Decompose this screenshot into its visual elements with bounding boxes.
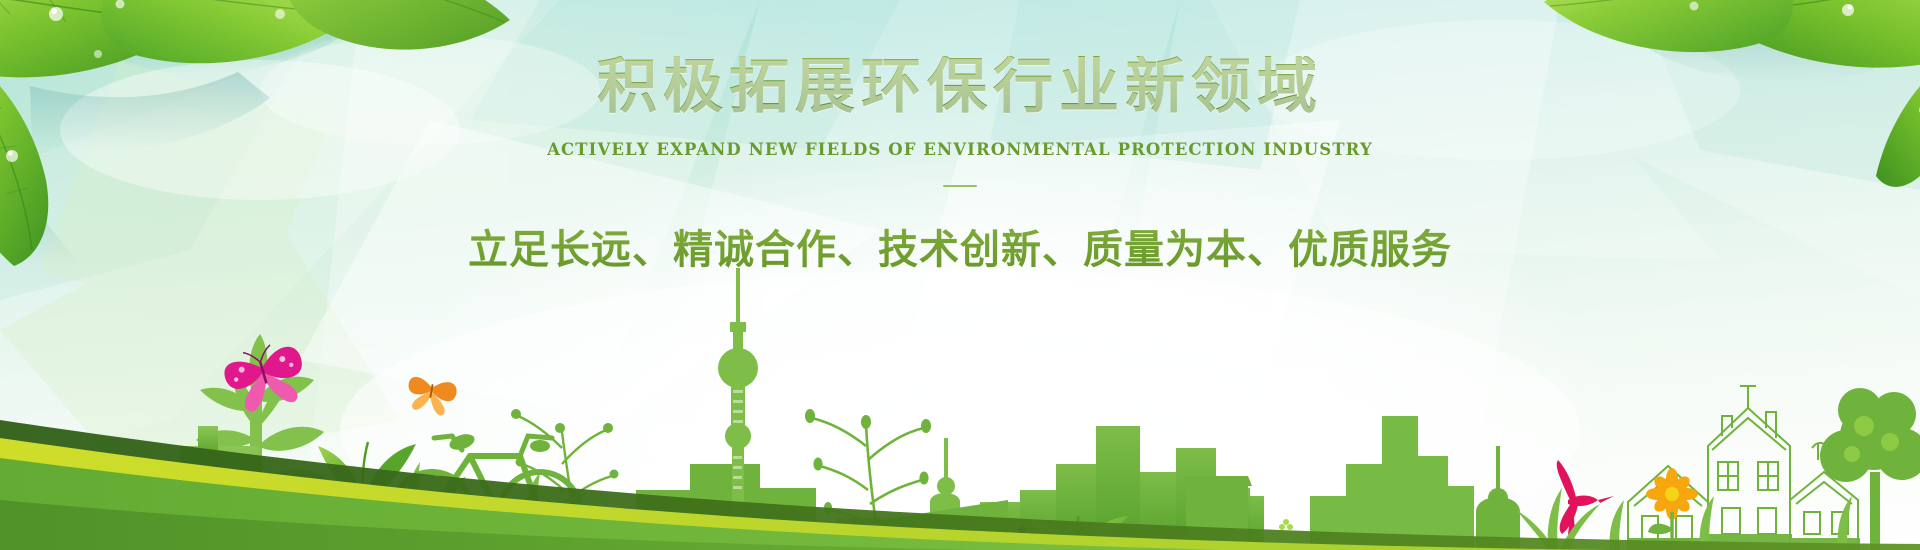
environmental-banner: 积极拓展环保行业新领域 ACTIVELY EXPAND NEW FIELDS O…: [0, 0, 1920, 550]
leaf-cluster-icon: [1524, 0, 1920, 200]
hill-bands: [0, 360, 1920, 550]
leaf-cluster-icon: [0, 0, 530, 266]
